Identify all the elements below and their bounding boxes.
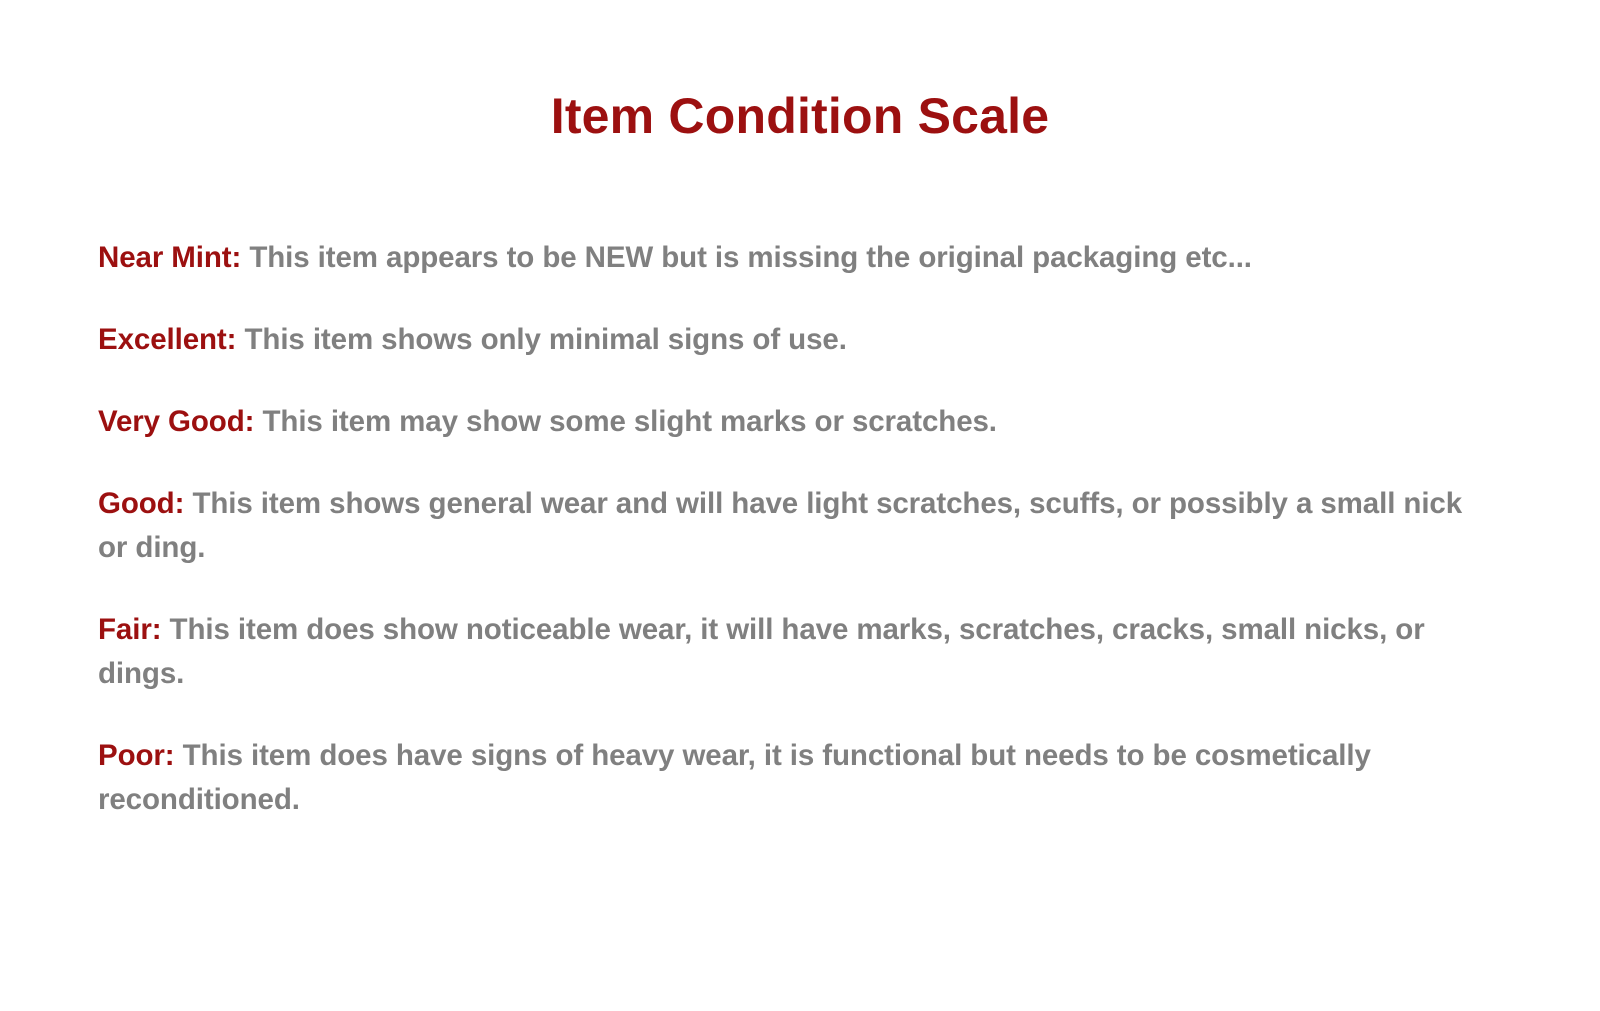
condition-item-poor: Poor: This item does have signs of heavy…	[98, 734, 1498, 822]
slide-canvas: Item Condition Scale Near Mint: This ite…	[0, 0, 1600, 1011]
condition-item-excellent: Excellent: This item shows only minimal …	[98, 318, 1498, 362]
condition-description: This item does show noticeable wear, it …	[98, 613, 1425, 690]
page-title: Item Condition Scale	[0, 89, 1600, 144]
condition-term: Good:	[98, 487, 184, 520]
condition-list: Near Mint: This item appears to be NEW b…	[98, 236, 1498, 822]
condition-description: This item shows only minimal signs of us…	[244, 323, 846, 356]
condition-description: This item appears to be NEW but is missi…	[249, 241, 1252, 274]
condition-description: This item does have signs of heavy wear,…	[98, 739, 1371, 816]
condition-term: Near Mint:	[98, 241, 241, 274]
condition-term: Fair:	[98, 613, 161, 646]
condition-item-good: Good: This item shows general wear and w…	[98, 482, 1498, 570]
condition-item-very-good: Very Good: This item may show some sligh…	[98, 400, 1498, 444]
condition-term: Excellent:	[98, 323, 236, 356]
condition-description: This item shows general wear and will ha…	[98, 487, 1462, 564]
condition-term: Very Good:	[98, 405, 254, 438]
condition-item-near-mint: Near Mint: This item appears to be NEW b…	[98, 236, 1498, 280]
condition-term: Poor:	[98, 739, 175, 772]
condition-item-fair: Fair: This item does show noticeable wea…	[98, 608, 1498, 696]
condition-description: This item may show some slight marks or …	[262, 405, 996, 438]
